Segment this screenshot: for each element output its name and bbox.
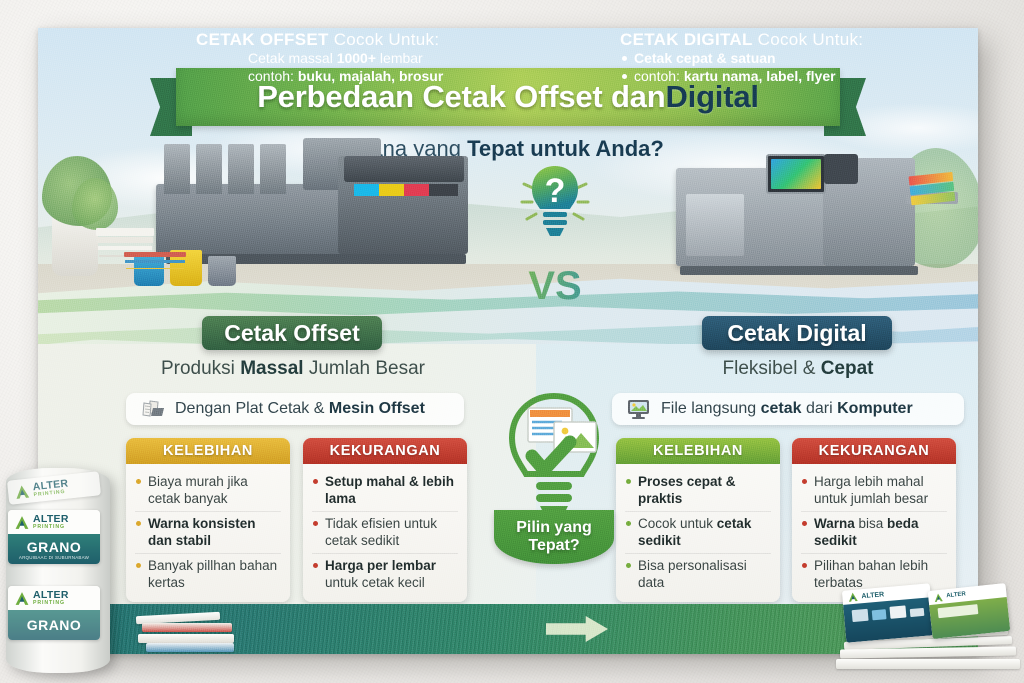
list-item: Bisa personalisasi data — [625, 554, 771, 595]
bottom-digital-heading-thin: Cocok Untuk: — [753, 30, 864, 49]
versus-label: VS — [500, 264, 610, 309]
label-product-band-lower: GRANO — [8, 610, 100, 640]
digital-pill-a: File langsung — [661, 400, 761, 417]
bottom-offset-heading-bold: CETAK OFFSET — [196, 30, 329, 49]
list-item: Warna bisa beda sedikit — [801, 512, 947, 554]
digital-press-door — [686, 194, 744, 256]
label-logo-row-main: ALTER PRINTING — [8, 510, 100, 534]
choose-line-2: Tepat? — [528, 537, 579, 555]
list-item: Proses cepat & praktis — [625, 470, 771, 512]
label-product-name-lower: GRANO — [27, 617, 82, 633]
bottom-digital-heading: CETAK DIGITAL Cocok Untuk: — [620, 30, 978, 50]
press-tower-1 — [164, 144, 190, 194]
press-tower-2 — [196, 144, 222, 194]
question-lightbulb-icon: ? — [518, 160, 592, 264]
digital-tagline-b: Cepat — [821, 358, 874, 379]
printed-output-sheets — [909, 172, 958, 207]
offset-pros-header: KELEBIHAN — [126, 438, 290, 464]
offset-cons-header: KEKURANGAN — [303, 438, 467, 464]
lightbulb-check-icon — [496, 390, 612, 530]
list-item: Warna konsisten dan stabil — [135, 512, 281, 554]
list-item: Tidak efisien untuk cetak sedikit — [312, 512, 458, 554]
alter-logo-text-lower: ALTER PRINTING — [33, 590, 69, 606]
digital-press-touchscreen — [766, 154, 826, 194]
computer-monitor-icon — [626, 399, 652, 420]
alter-logo-icon-flyer-1 — [847, 592, 859, 603]
choose-badge: Pilin yang Tepat? — [490, 390, 618, 568]
alter-logo-icon-flyer-2 — [933, 592, 944, 602]
alter-logo-text-main: ALTER PRINTING — [33, 514, 69, 530]
label-sticker-lower: ALTER PRINTING GRANO — [8, 586, 100, 640]
flyer-sample-1: ALTER — [842, 583, 934, 642]
cmyk-ink-strip — [354, 184, 458, 196]
choose-badge-label: Pilin yang Tepat? — [494, 510, 614, 564]
offset-pros-card: KELEBIHAN Biaya murah jika cetak banyak … — [126, 438, 290, 602]
bottom-offset-heading-thin: Cocok Untuk: — [329, 30, 440, 49]
bottom-offset-heading: CETAK OFFSET Cocok Untuk: — [196, 30, 576, 50]
digital-tagline-a: Fleksibel & — [723, 358, 821, 379]
plant-leaves-decoration-2 — [72, 178, 118, 230]
alter-logo-icon — [13, 483, 30, 500]
printed-flyers-stack: ALTER ALTER — [834, 563, 1024, 683]
alter-logo-icon-main — [14, 515, 30, 530]
digital-section-title: Cetak Digital — [702, 316, 892, 350]
printing-plate-icon — [140, 399, 166, 419]
offset-method-pill: Dengan Plat Cetak & Mesin Offset — [126, 393, 464, 425]
label-sticker-main: ALTER PRINTING GRANO ARQUIBAAC DI SUBURN… — [8, 510, 100, 564]
digital-pros-list: Proses cepat & praktis Cocok untuk cetak… — [616, 464, 780, 596]
offset-pros-list: Biaya murah jika cetak banyak Warna kons… — [126, 464, 290, 596]
digital-pill-c: dari — [802, 400, 838, 417]
digital-method-pill: File langsung cetak dari Komputer — [612, 393, 964, 425]
label-logo-row-lower: ALTER PRINTING — [8, 586, 100, 610]
digital-pill-b: cetak — [761, 400, 802, 417]
book-stack-decoration — [136, 600, 256, 652]
offset-tagline: Produksi Massal Jumlah Besar — [128, 358, 458, 380]
offset-pill-a: Dengan Plat Cetak & — [175, 400, 329, 417]
bottom-digital-heading-bold: CETAK DIGITAL — [620, 30, 753, 49]
alter-logo-text: ALTER PRINTING — [32, 479, 69, 498]
bottom-digital-summary: CETAK DIGITAL Cocok Untuk: Cetak cepat &… — [620, 30, 978, 85]
offset-method-text: Dengan Plat Cetak & Mesin Offset — [175, 400, 425, 418]
list-item: Cocok untuk cetak sedikit — [625, 512, 771, 554]
bottom-offset-line-1: Cetak massal 1000+ lembar — [196, 50, 576, 68]
digital-cons-header: KEKURANGAN — [792, 438, 956, 464]
digital-press-base — [680, 266, 918, 275]
infographic-poster: Perbedaan Cetak Offset dan Digital Mana … — [38, 28, 978, 654]
alter-logo-icon-lower — [14, 591, 30, 606]
list-item: Banyak pillhan bahan kertas — [135, 554, 281, 595]
label-product-sub: ARQUIBAAC DI SUBURNABAW — [19, 555, 89, 560]
ink-bucket-cyan — [134, 256, 164, 286]
press-tower-3 — [228, 144, 254, 194]
digital-pros-header: KELEBIHAN — [616, 438, 780, 464]
flyer-body-1 — [843, 597, 934, 643]
ink-bucket-grey — [208, 256, 236, 286]
list-item: Biaya murah jika cetak banyak — [135, 470, 281, 512]
press-hood — [344, 156, 464, 182]
digital-press-control-panel — [824, 154, 858, 184]
offset-tagline-b: Massal — [240, 358, 303, 379]
label-product-band: GRANO ARQUIBAAC DI SUBURNABAW — [8, 534, 100, 564]
choose-line-1: Pilin yang — [516, 519, 592, 537]
paper-stack-colored — [124, 252, 186, 257]
list-item: Setup mahal & lebih lama — [312, 470, 458, 512]
digital-pill-d: Komputer — [837, 400, 913, 417]
offset-section-title: Cetak Offset — [202, 316, 382, 350]
bottom-digital-line-2: contoh: kartu nama, label, flyer — [620, 68, 978, 86]
list-item: Harga lebih mahal untuk jumlah besar — [801, 470, 947, 512]
offset-cons-list: Setup mahal & lebih lama Tidak efisien u… — [303, 464, 467, 596]
bottom-offset-line-2: contoh: buku, majalah, brosur — [196, 68, 576, 86]
paper-stack-left — [96, 228, 154, 236]
svg-text:?: ? — [545, 172, 566, 210]
digital-tagline: Fleksibel & Cepat — [628, 358, 968, 380]
digital-pros-card: KELEBIHAN Proses cepat & praktis Cocok u… — [616, 438, 780, 602]
bottom-digital-line-1: Cetak cepat & satuan — [620, 50, 978, 68]
digital-press-illustration — [618, 148, 958, 283]
list-item: Harga per lembar untuk cetak kecil — [312, 554, 458, 595]
bottom-offset-summary: CETAK OFFSET Cocok Untuk: Cetak massal 1… — [196, 30, 576, 85]
press-tower-4 — [260, 144, 286, 194]
versus-group: ? VS — [500, 160, 610, 312]
offset-pill-b: Mesin Offset — [329, 400, 425, 417]
offset-tagline-a: Produksi — [161, 358, 240, 379]
label-roll-product: ALTER PRINTING ALTER PRINTING GRANO ARQU… — [0, 468, 118, 683]
digital-method-text: File langsung cetak dari Komputer — [661, 400, 913, 418]
label-product-name: GRANO — [27, 539, 82, 555]
offset-cons-card: KEKURANGAN Setup mahal & lebih lama Tida… — [303, 438, 467, 602]
offset-tagline-c: Jumlah Besar — [304, 358, 425, 379]
flyer-sample-2: ALTER — [928, 583, 1011, 639]
